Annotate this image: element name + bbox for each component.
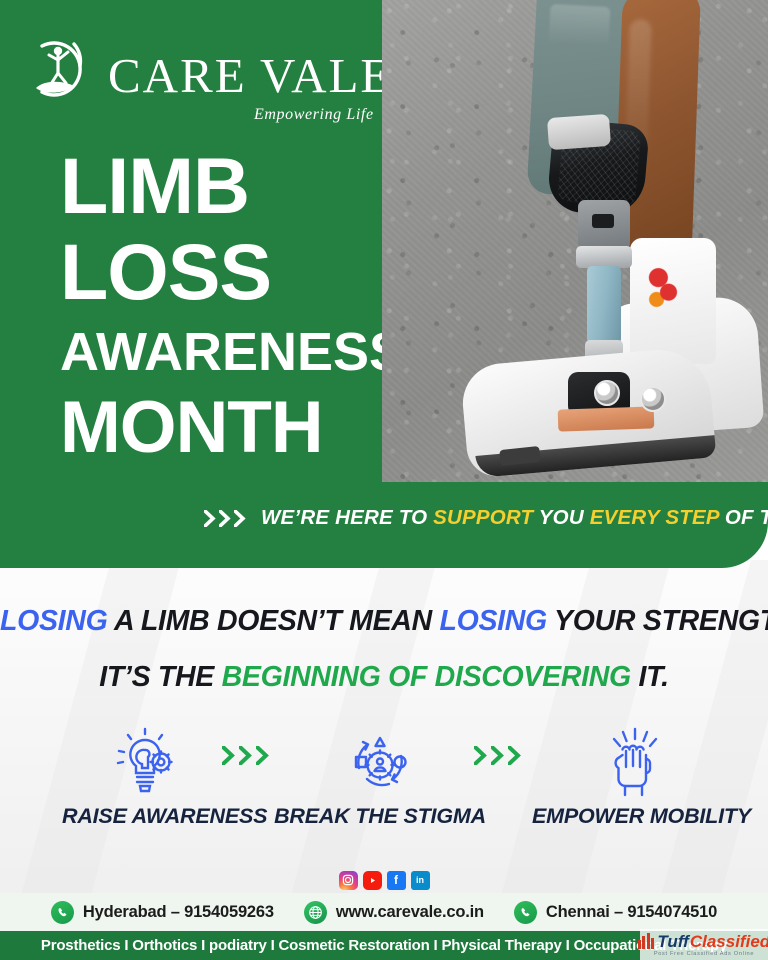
bars-icon (638, 933, 655, 949)
social-icons-row: f in (0, 869, 768, 891)
tagline-part-3: OF THE WAY. (719, 506, 768, 529)
features-row: RAISE AWARENESS (0, 724, 768, 844)
message-highlight-beginning: BEGINNING OF DISCOVERING (222, 661, 631, 693)
tagline-part-1: WE’RE HERE TO (261, 506, 433, 529)
tagline-highlight-2: EVERY STEP (590, 506, 719, 529)
feature-label: RAISE AWARENESS (62, 804, 228, 829)
brand-name: CARE VALE (108, 50, 392, 102)
message-text-1d: YOUR STRENGTH (547, 605, 768, 637)
contact-text: Hyderabad – 9154059263 (83, 903, 274, 922)
watermark-subtitle: Post Free Classified Ads Online (654, 951, 754, 957)
feature-empower-mobility: EMPOWER MOBILITY (532, 724, 738, 829)
facebook-icon[interactable]: f (387, 871, 406, 890)
services-text: Prosthetics I Orthotics I podiatry I Cos… (41, 937, 727, 954)
brand-logo: CARE VALE Empowering Life (26, 30, 376, 126)
message-line-1: LOSING A LIMB DOESN’T MEAN LOSING YOUR S… (0, 604, 768, 638)
contact-chennai[interactable]: Chennai – 9154074510 (514, 901, 717, 924)
raised-fist-icon (532, 724, 738, 800)
lightbulb-gear-icon (62, 724, 228, 800)
contact-hyderabad[interactable]: Hyderabad – 9154059263 (51, 901, 274, 924)
linkedin-glyph: in (416, 875, 424, 885)
contact-website[interactable]: www.carevale.co.in (304, 901, 484, 924)
contact-text: Chennai – 9154074510 (546, 903, 717, 922)
contact-text: www.carevale.co.in (336, 903, 484, 922)
chevron-right-triple-icon (204, 510, 247, 527)
message-highlight-losing-1: LOSING (0, 605, 107, 637)
feature-label: EMPOWER MOBILITY (532, 804, 738, 829)
message-highlight-losing-2: LOSING (439, 605, 546, 637)
message-text-2c: IT. (631, 661, 669, 693)
message-text-1b: A LIMB DOESN’T MEAN (107, 605, 439, 637)
phone-icon (51, 901, 74, 924)
headline-line-2: LOSS (60, 232, 380, 312)
chevron-right-triple-icon (474, 746, 522, 765)
feature-raise-awareness: RAISE AWARENESS (62, 724, 228, 829)
globe-icon (304, 901, 327, 924)
tagline-highlight-1: SUPPORT (433, 506, 533, 529)
message-line-2: IT’S THE BEGINNING OF DISCOVERING IT. (0, 660, 768, 694)
tuffclassified-watermark: Tuff Classified Post Free Classified Ads… (640, 929, 768, 960)
headline-line-3: AWARENESS (60, 324, 380, 380)
facebook-glyph: f (394, 873, 398, 887)
gear-person-cycle-icon (268, 724, 492, 800)
message-text-2a: IT’S THE (99, 661, 221, 693)
poster: CARE VALE Empowering Life LIMB LOSS AWAR… (0, 0, 768, 960)
watermark-part-1: Tuff (657, 933, 688, 950)
chevron-right-triple-icon (222, 746, 270, 765)
hero-photo (382, 0, 768, 482)
instagram-icon[interactable] (339, 871, 358, 890)
watermark-part-2: Classified (690, 933, 768, 950)
feature-label: BREAK THE STIGMA (268, 804, 492, 829)
headline: LIMB LOSS AWARENESS MONTH (60, 146, 380, 466)
youtube-icon[interactable] (363, 871, 382, 890)
brand-tagline: Empowering Life (254, 106, 374, 124)
support-tagline: WE’RE HERE TO SUPPORT YOU EVERY STEP OF … (261, 506, 768, 530)
message-block: LOSING A LIMB DOESN’T MEAN LOSING YOUR S… (0, 604, 768, 694)
linkedin-icon[interactable]: in (411, 871, 430, 890)
contact-bar: Hyderabad – 9154059263 www.carevale.co.i… (0, 893, 768, 931)
phone-icon (514, 901, 537, 924)
support-tagline-row: WE’RE HERE TO SUPPORT YOU EVERY STEP OF … (0, 498, 768, 538)
person-in-hand-icon (28, 36, 92, 102)
tagline-part-2: YOU (533, 506, 589, 529)
headline-line-1: LIMB (60, 146, 380, 226)
feature-break-the-stigma: BREAK THE STIGMA (268, 724, 492, 829)
headline-line-4: MONTH (60, 390, 380, 466)
